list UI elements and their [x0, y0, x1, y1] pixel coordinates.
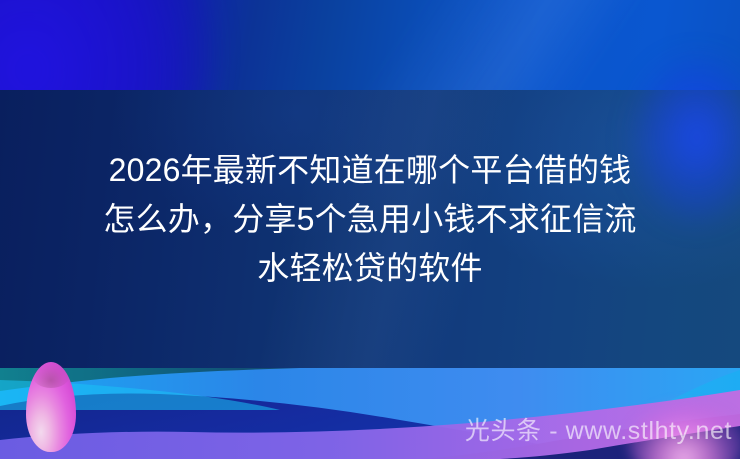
page-title: 2026年最新不知道在哪个平台借的钱 怎么办，分享5个急用小钱不求征信流 水轻松… [0, 146, 740, 293]
egg-shape-decoration [26, 362, 76, 452]
title-line-1: 2026年最新不知道在哪个平台借的钱 [26, 146, 714, 195]
watermark-text: 光头条 - www.stlhty.net [465, 411, 732, 447]
title-line-2: 怎么办，分享5个急用小钱不求征信流 [26, 195, 714, 244]
cover-image-card: 2026年最新不知道在哪个平台借的钱 怎么办，分享5个急用小钱不求征信流 水轻松… [0, 0, 740, 459]
title-line-3: 水轻松贷的软件 [26, 244, 714, 293]
